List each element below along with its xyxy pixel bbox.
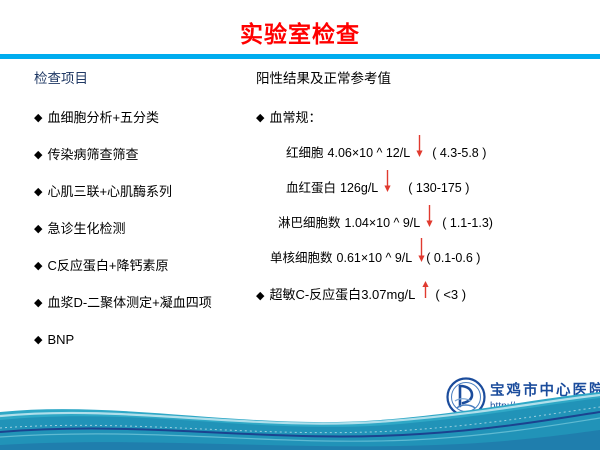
diamond-bullet-icon: ◆ [34,221,42,237]
list-item: ◆ C反应蛋白+降钙素原 [34,258,256,274]
list-item: ◆ BNP [34,332,256,348]
diamond-bullet-icon: ◆ [34,332,42,348]
lab-value: 126g/L [340,180,378,196]
list-item-label: BNP [47,332,74,348]
arrow-down-icon [378,176,408,192]
diamond-bullet-icon: ◆ [256,288,264,304]
exam-items-column: 检查项目 ◆ 血细胞分析+五分类 ◆ 传染病筛查筛查 ◆ 心肌三联+心肌酶系列 … [34,70,256,348]
diamond-bullet-icon: ◆ [256,110,264,126]
list-item: ◆ 急诊生化检测 [34,221,256,237]
list-item-label: 传染病筛查筛查 [47,147,138,163]
lab-name: 单核细胞数 [270,250,333,266]
list-item-label: C反应蛋白+降钙素原 [47,258,168,274]
diamond-bullet-icon: ◆ [34,258,42,274]
title-area: 实验室检查 [0,0,600,56]
results-column: 阳性结果及正常参考值 ◆ 血常规： 红细胞 4.06×10 ^ 12/L ( [256,70,596,304]
footer-wave-decoration [0,390,600,450]
blood-routine-group: ◆ 血常规： 红细胞 4.06×10 ^ 12/L ( 4.3-5.8 ) [256,110,596,266]
slide-canvas: 实验室检查 检查项目 ◆ 血细胞分析+五分类 ◆ 传染病筛查筛查 ◆ 心肌三联+… [0,0,600,450]
table-row: 红细胞 4.06×10 ^ 12/L ( 4.3-5.8 ) [256,141,596,161]
lab-name: 血红蛋白 [286,180,336,196]
lab-reference-range: ( 1.1-1.3) [442,215,493,231]
blood-routine-heading: ◆ 血常规： [256,110,596,126]
title-divider [0,54,600,59]
lab-value: 0.61×10 ^ 9/L [337,250,413,266]
list-item: ◆ 血浆D-二聚体测定+凝血四项 [34,295,256,311]
exam-items-list: ◆ 血细胞分析+五分类 ◆ 传染病筛查筛查 ◆ 心肌三联+心肌酶系列 ◆ 急诊生… [34,110,256,348]
list-item-label: 血浆D-二聚体测定+凝血四项 [47,295,211,311]
lab-reference-range: ( 130-175 ) [408,180,469,196]
arrow-up-icon [415,283,435,299]
table-row: 淋巴细胞数 1.04×10 ^ 9/L ( 1.1-1.3) [256,211,596,231]
lab-name: 超敏C-反应蛋白 [269,287,361,303]
lab-result-rows: 红细胞 4.06×10 ^ 12/L ( 4.3-5.8 ) 血红蛋白 126g… [256,141,596,266]
diamond-bullet-icon: ◆ [34,184,42,200]
lab-reference-range: ( 0.1-0.6 ) [426,250,480,266]
diamond-bullet-icon: ◆ [34,147,42,163]
lab-reference-range: ( <3 ) [435,287,466,303]
list-item: ◆ 心肌三联+心肌酶系列 [34,184,256,200]
page-title: 实验室检查 [0,20,600,48]
crp-result-row: ◆ 超敏C-反应蛋白 3.07mg/L ( <3 ) [256,283,596,304]
list-item-label: 心肌三联+心肌酶系列 [47,184,172,200]
lab-value: 1.04×10 ^ 9/L [345,215,421,231]
table-row: 血红蛋白 126g/L ( 130-175 ) [256,176,596,196]
diamond-bullet-icon: ◆ [34,295,42,311]
exam-items-header: 检查项目 [34,70,256,88]
list-item-label: 急诊生化检测 [47,221,125,237]
lab-reference-range: ( 4.3-5.8 ) [432,145,486,161]
table-row: 单核细胞数 0.61×10 ^ 9/L ( 0.1-0.6 ) [256,246,596,266]
list-item-label: 血细胞分析+五分类 [47,110,159,126]
results-header: 阳性结果及正常参考值 [256,70,596,88]
lab-value: 3.07mg/L [361,287,415,303]
diamond-bullet-icon: ◆ [34,110,42,126]
arrow-down-icon [420,211,442,227]
list-item: ◆ 传染病筛查筛查 [34,147,256,163]
list-item: ◆ 血细胞分析+五分类 [34,110,256,126]
blood-routine-label: 血常规： [269,110,321,126]
lab-value: 4.06×10 ^ 12/L [328,145,411,161]
lab-name: 淋巴细胞数 [278,215,341,231]
arrow-down-icon [412,246,426,262]
lab-name: 红细胞 [286,145,324,161]
arrow-down-icon [410,141,432,157]
